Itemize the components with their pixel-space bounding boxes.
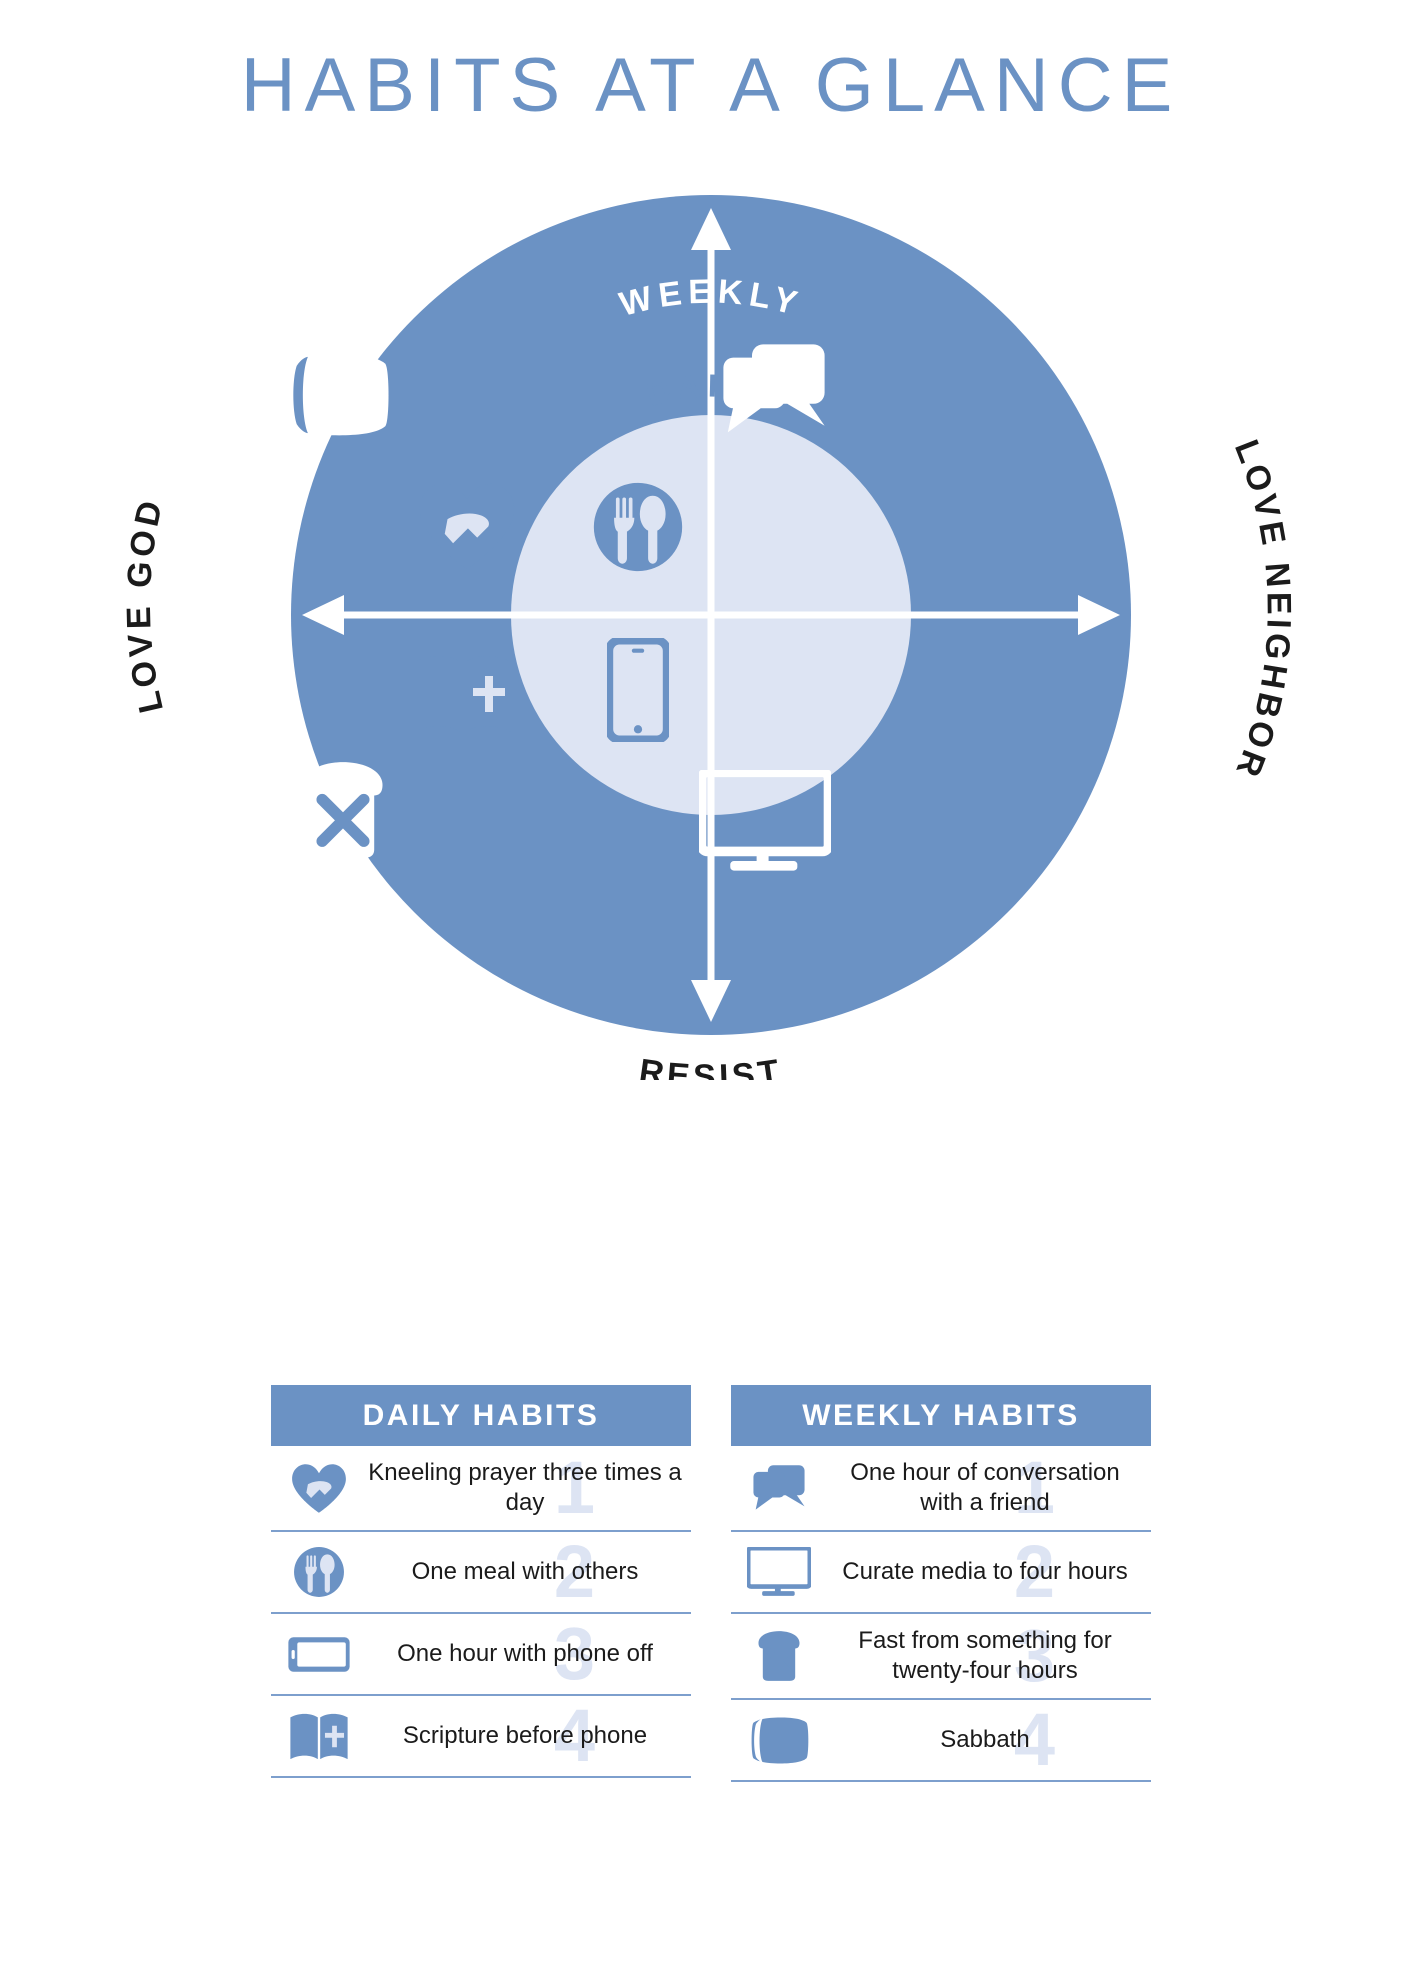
speech-bubble-icon: [731, 1463, 827, 1513]
weekly-habits-table: WEEKLY HABITS 1 One hour of conversation…: [731, 1385, 1151, 1782]
row-label: One meal with others: [367, 1545, 691, 1599]
habit-tables: DAILY HABITS 1 Kneeling prayer three tim…: [0, 1385, 1422, 1782]
row-label: Curate media to four hours: [827, 1545, 1151, 1599]
heart-praying-hands-icon: [271, 1462, 367, 1515]
weekly-habits-header: WEEKLY HABITS: [731, 1385, 1151, 1446]
fork-spoon-plate-icon: [271, 1546, 367, 1598]
habits-quadrant-diagram: EMBRACE RESIST LOVE GOD LOVE NEIGHBOR WE…: [111, 150, 1311, 1080]
table-row[interactable]: 4 Scripture before phone: [271, 1696, 691, 1778]
axis-label-love-neighbor: LOVE NEIGHBOR: [1227, 435, 1298, 785]
daily-habits-rows: 1 Kneeling prayer three times a day 2 On…: [271, 1446, 691, 1778]
bread-slice-crossed-out-icon: [731, 1630, 827, 1682]
table-row[interactable]: 1 One hour of conversation with a friend: [731, 1446, 1151, 1532]
row-label: One hour with phone off: [367, 1627, 691, 1681]
bible-book-icon: [271, 1710, 367, 1763]
row-label: Sabbath: [827, 1713, 1151, 1767]
row-label: One hour of conversation with a friend: [827, 1446, 1151, 1530]
table-row[interactable]: 3 One hour with phone off: [271, 1614, 691, 1696]
pillow-icon: [289, 355, 389, 436]
daily-habits-header: DAILY HABITS: [271, 1385, 691, 1446]
pillow-icon: [731, 1715, 827, 1766]
row-label: Scripture before phone: [367, 1709, 691, 1763]
smartphone-off-icon: [271, 1636, 367, 1673]
table-row[interactable]: 2 One meal with others: [271, 1532, 691, 1614]
row-label: Kneeling prayer three times a day: [367, 1446, 691, 1530]
page-title: HABITS AT A GLANCE: [0, 42, 1422, 129]
table-row[interactable]: 2 Curate media to four hours: [731, 1532, 1151, 1614]
daily-habits-table: DAILY HABITS 1 Kneeling prayer three tim…: [271, 1385, 691, 1782]
row-label: Fast from something for twenty-four hour…: [827, 1614, 1151, 1698]
weekly-habits-rows: 1 One hour of conversation with a friend…: [731, 1446, 1151, 1782]
table-row[interactable]: 1 Kneeling prayer three times a day: [271, 1446, 691, 1532]
table-row[interactable]: 4 Sabbath: [731, 1700, 1151, 1782]
axis-label-resist: RESIST: [637, 1052, 786, 1080]
axis-label-love-god: LOVE GOD: [120, 494, 171, 717]
fork-spoon-plate-icon: [594, 483, 682, 571]
television-icon: [731, 1547, 827, 1597]
bread-slice-crossed-out-icon: [303, 762, 382, 858]
table-row[interactable]: 3 Fast from something for twenty-four ho…: [731, 1614, 1151, 1700]
